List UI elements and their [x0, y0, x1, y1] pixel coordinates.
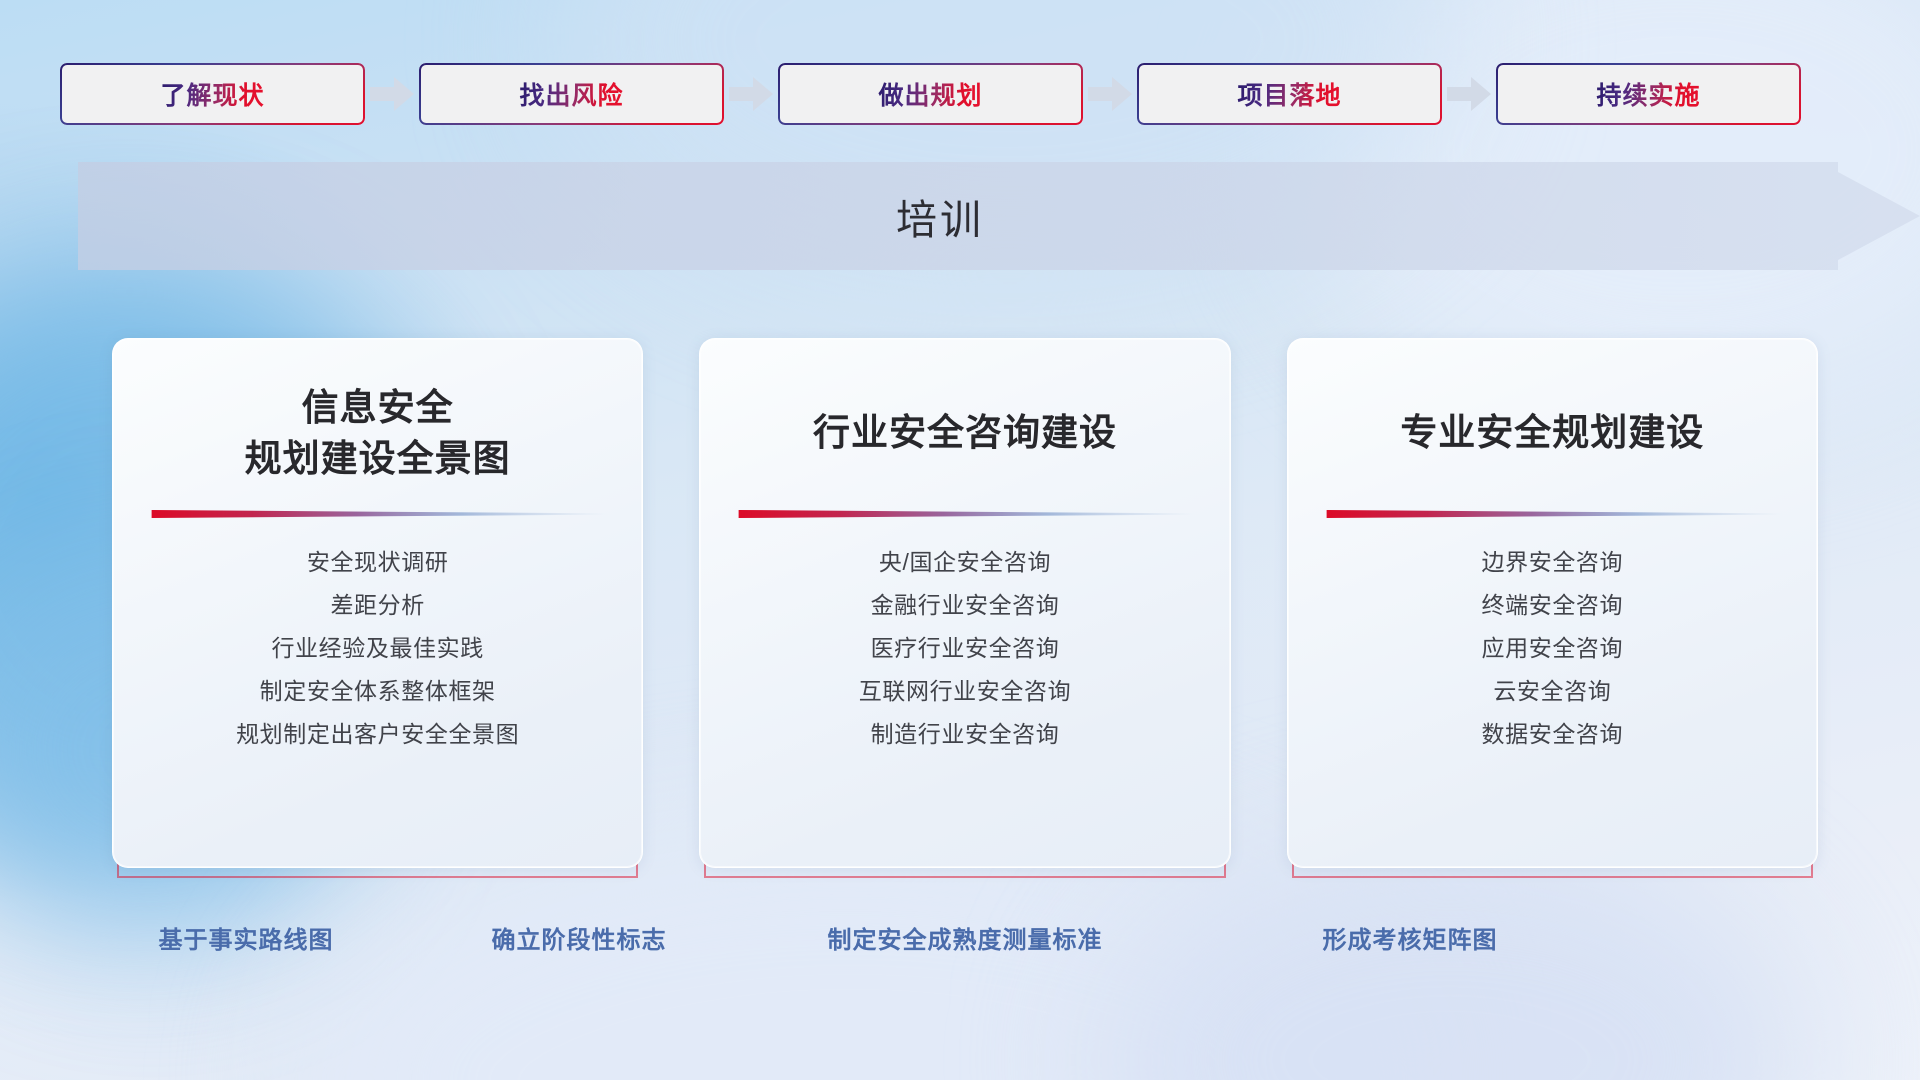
- arrow-right-icon: [365, 77, 419, 111]
- step-box-3[interactable]: 做出规划: [778, 63, 1083, 125]
- bottom-label-1: 基于事实路线图: [159, 920, 334, 955]
- list-item: 数据安全咨询: [1322, 713, 1783, 756]
- step-label: 找出风险: [519, 76, 623, 112]
- card-wrapper-3: 专业安全规划建设: [1287, 338, 1818, 878]
- step-box-4[interactable]: 项目落地: [1137, 63, 1442, 125]
- bottom-label-2: 确立阶段性标志: [492, 920, 667, 955]
- step-box-2[interactable]: 找出风险: [419, 63, 724, 125]
- arrow-right-icon: [1083, 77, 1137, 111]
- step-box-5[interactable]: 持续实施: [1496, 63, 1801, 125]
- list-item: 行业经验及最佳实践: [147, 627, 608, 670]
- list-item: 终端安全咨询: [1322, 584, 1783, 627]
- card-item-list: 边界安全咨询 终端安全咨询 应用安全咨询 云安全咨询 数据安全咨询: [1322, 541, 1783, 756]
- card-divider: [147, 507, 608, 521]
- step-label: 做出规划: [878, 76, 982, 112]
- card-title-line: 专业安全规划建设: [1400, 407, 1704, 458]
- list-item: 差距分析: [147, 584, 608, 627]
- slide-canvas: 了解现状 找出风险 做出规划 项目落地 持续实施: [0, 0, 1920, 1080]
- card-2[interactable]: 行业安全咨询建设: [699, 338, 1230, 868]
- list-item: 央/国企安全咨询: [734, 541, 1195, 584]
- card-title-line: 规划建设全景图: [245, 433, 511, 484]
- list-item: 云安全咨询: [1322, 670, 1783, 713]
- arrow-right-icon: [724, 77, 778, 111]
- card-item-list: 安全现状调研 差距分析 行业经验及最佳实践 制定安全体系整体框架 规划制定出客户…: [147, 541, 608, 756]
- card-divider: [1322, 507, 1783, 521]
- card-title: 行业安全咨询建设: [813, 381, 1117, 485]
- step-label: 项目落地: [1237, 76, 1341, 112]
- bottom-label-3: 制定安全成熟度测量标准: [828, 920, 1103, 955]
- card-1[interactable]: 信息安全 规划建设全景图: [112, 338, 643, 868]
- card-title: 专业安全规划建设: [1400, 381, 1704, 485]
- card-row: 信息安全 规划建设全景图: [112, 338, 1818, 878]
- card-wrapper-1: 信息安全 规划建设全景图: [112, 338, 643, 878]
- step-label: 持续实施: [1596, 76, 1700, 112]
- card-title-line: 信息安全: [245, 382, 511, 433]
- list-item: 边界安全咨询: [1322, 541, 1783, 584]
- list-item: 互联网行业安全咨询: [734, 670, 1195, 713]
- list-item: 规划制定出客户安全全景图: [147, 713, 608, 756]
- card-wrapper-2: 行业安全咨询建设: [699, 338, 1230, 878]
- banner-title: 培训: [0, 162, 1880, 270]
- arrow-right-icon: [1442, 77, 1496, 111]
- training-banner: 培训: [0, 162, 1920, 270]
- card-divider: [734, 507, 1195, 521]
- card-title: 信息安全 规划建设全景图: [245, 381, 511, 485]
- step-label: 了解现状: [160, 76, 264, 112]
- list-item: 制定安全体系整体框架: [147, 670, 608, 713]
- bottom-label-4: 形成考核矩阵图: [1323, 920, 1498, 955]
- list-item: 医疗行业安全咨询: [734, 627, 1195, 670]
- list-item: 制造行业安全咨询: [734, 713, 1195, 756]
- card-item-list: 央/国企安全咨询 金融行业安全咨询 医疗行业安全咨询 互联网行业安全咨询 制造行…: [734, 541, 1195, 756]
- list-item: 金融行业安全咨询: [734, 584, 1195, 627]
- bottom-label-row: 基于事实路线图 确立阶段性标志 制定安全成熟度测量标准 形成考核矩阵图: [0, 920, 1920, 964]
- list-item: 应用安全咨询: [1322, 627, 1783, 670]
- card-3[interactable]: 专业安全规划建设: [1287, 338, 1818, 868]
- list-item: 安全现状调研: [147, 541, 608, 584]
- card-title-line: 行业安全咨询建设: [813, 407, 1117, 458]
- step-box-1[interactable]: 了解现状: [60, 63, 365, 125]
- process-step-row: 了解现状 找出风险 做出规划 项目落地 持续实施: [60, 63, 1860, 125]
